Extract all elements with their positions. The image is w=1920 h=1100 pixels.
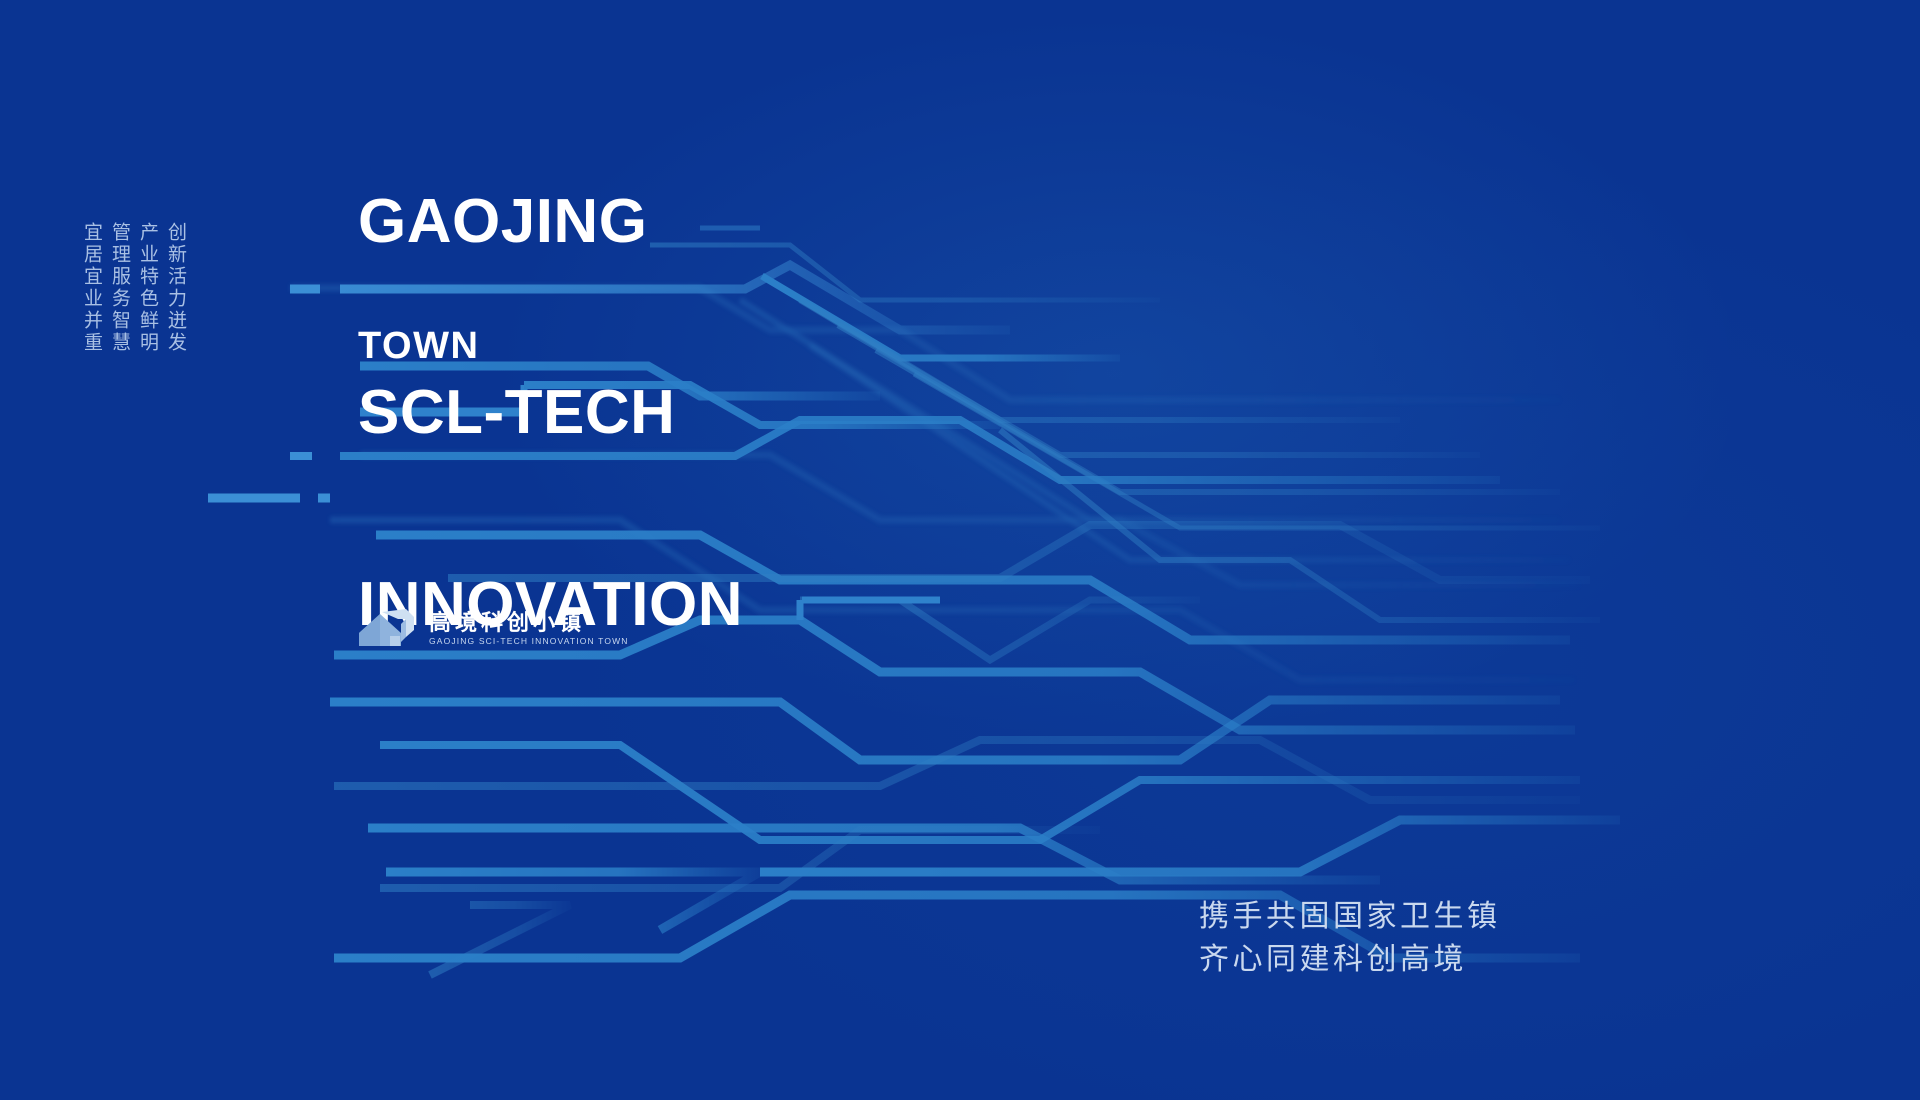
vertical-slogan: 创新活力迸发 产业特色鲜明 管理服务智慧 宜居宜业并重 [82, 222, 185, 354]
page-title: GAOJING SCL-TECH INNOVATION [358, 62, 743, 764]
headline-line-2: SCL-TECH [358, 381, 743, 445]
headline-line-1: GAOJING [358, 190, 743, 254]
bottom-slogan-line-2: 齐心同建科创高境 [1199, 939, 1501, 982]
poster-canvas: 创新活力迸发 产业特色鲜明 管理服务智慧 宜居宜业并重 GAOJING SCL-… [0, 0, 1920, 1100]
circuit-line-pattern [0, 0, 1920, 1100]
bottom-slogan-line-1: 携手共固国家卫生镇 [1199, 896, 1501, 939]
house-building-icon [356, 606, 418, 652]
brand-logo-text: 高境科创小镇 GAOJING SCI-TECH INNOVATION TOWN [429, 613, 629, 646]
brand-name-en: GAOJING SCI-TECH INNOVATION TOWN [429, 637, 629, 646]
vertical-slogan-column-1: 创新活力迸发 [166, 222, 185, 354]
background-glow [0, 0, 1920, 1100]
vertical-slogan-column-4: 宜居宜业并重 [82, 222, 101, 354]
bottom-slogan: 携手共固国家卫生镇 齐心同建科创高境 [1199, 896, 1501, 981]
brand-name-cn: 高境科创小镇 [429, 613, 629, 635]
vertical-slogan-column-3: 管理服务智慧 [110, 222, 129, 354]
vertical-slogan-column-2: 产业特色鲜明 [138, 222, 157, 354]
brand-logo: 高境科创小镇 GAOJING SCI-TECH INNOVATION TOWN [356, 606, 629, 652]
headline-subline: TOWN [358, 325, 479, 368]
